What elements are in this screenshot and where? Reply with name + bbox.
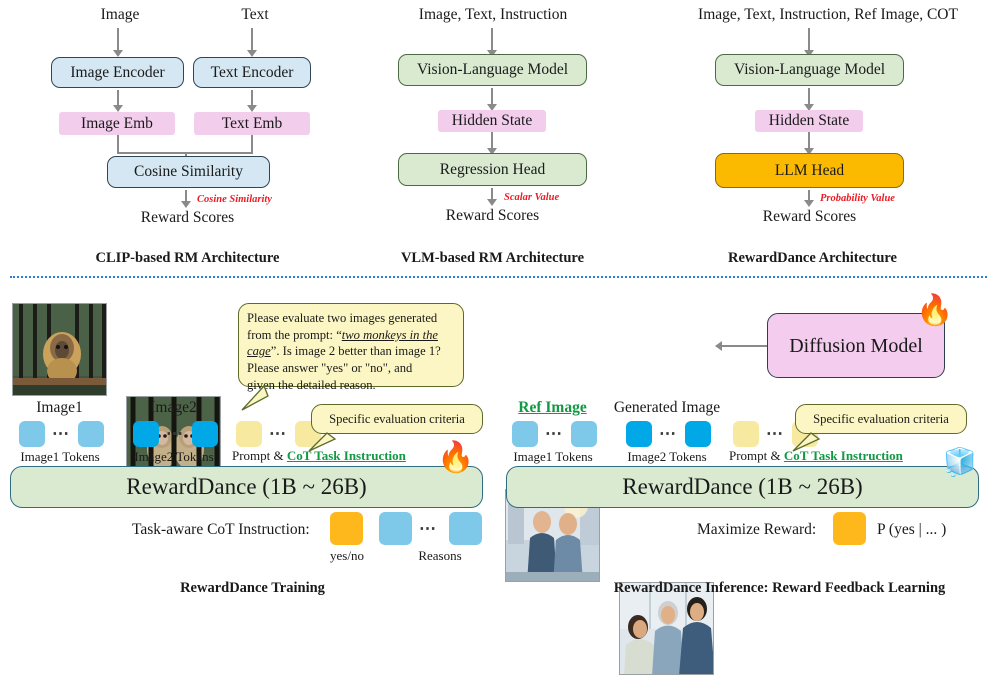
arrowhead-txtenc-to-txtemb <box>247 105 257 112</box>
image1-tokens-label-right: Image1 Tokens <box>498 448 608 466</box>
arrowhead-imgenc-to-imgemb <box>113 105 123 112</box>
bubble-line3-post: ”. Is image 2 better than image 1? <box>271 344 441 358</box>
bubble-prompt-em2: cage <box>247 344 271 358</box>
token-square <box>626 421 652 447</box>
criteria-bubble-left: Specific evaluation criteria <box>311 404 483 434</box>
panel2-annotation: Scalar Value <box>504 192 559 203</box>
line-txtemb-down <box>251 135 253 153</box>
bubble-prompt-em1: two monkeys in the <box>342 328 438 342</box>
image1-thumbnail[interactable] <box>12 303 107 396</box>
panel2-output-label: Reward Scores <box>430 206 555 226</box>
prompt-label-prefix: Prompt & <box>232 448 287 463</box>
arrow-input-to-vlm-2 <box>491 28 493 51</box>
image1-label: Image1 <box>12 398 107 418</box>
panel2-input-label: Image, Text, Instruction <box>382 5 604 25</box>
panel1-input-image: Image <box>80 5 160 25</box>
ref-image-label-wrap: Ref Image <box>505 398 600 418</box>
token-square <box>685 421 711 447</box>
image-encoder-box[interactable]: Image Encoder <box>51 57 184 88</box>
task-aware-cot-label: Task-aware CoT Instruction: <box>132 521 310 539</box>
panel3-caption: RewardDance Architecture <box>700 248 925 268</box>
panel3-output-label: Reward Scores <box>747 207 872 227</box>
reason-token <box>449 512 482 545</box>
bottom-right-caption: RewardDance Inference: Reward Feedback L… <box>567 578 992 598</box>
arrow-hidden-to-head-3 <box>808 132 810 149</box>
llm-head-box[interactable]: LLM Head <box>715 153 904 188</box>
arrow-text-to-encoder <box>251 28 253 51</box>
tokens-ellipsis: ⋯ <box>545 424 564 444</box>
arrowhead-cosine-to-reward <box>181 201 191 208</box>
yesno-token-label: yes/no <box>316 547 378 565</box>
ref-image-tokens-row: ⋯ <box>512 421 597 447</box>
panel1-output-label: Reward Scores <box>125 208 250 228</box>
ice-icon-inference: 🧊 <box>943 449 977 476</box>
line-imgemb-down <box>117 135 119 153</box>
text-encoder-box[interactable]: Text Encoder <box>193 57 311 88</box>
ref-image-label[interactable]: Ref Image <box>518 399 586 417</box>
arrow-image-to-encoder <box>117 28 119 51</box>
token-square <box>512 421 538 447</box>
prompt-label-prefix-right: Prompt & <box>729 448 784 463</box>
panel2-caption: VLM-based RM Architecture <box>385 248 600 268</box>
evaluation-prompt-bubble: Please evaluate two images generated fro… <box>238 303 464 387</box>
text-emb-box[interactable]: Text Emb <box>194 112 310 135</box>
bubble-line2-pre: from the prompt: “ <box>247 328 342 342</box>
arrowhead-head-to-reward-2 <box>487 199 497 206</box>
arrow-diffusion-to-image <box>722 345 767 347</box>
panel1-caption: CLIP-based RM Architecture <box>80 248 295 268</box>
reason-tokens-ellipsis: ⋯ <box>419 519 438 539</box>
token-square <box>236 421 262 447</box>
arrowhead-diffusion-to-image <box>715 341 722 351</box>
image2-label: Image2 <box>126 398 221 418</box>
cosine-similarity-box[interactable]: Cosine Similarity <box>107 156 270 188</box>
reward-probability-token <box>833 512 866 545</box>
panel3-input-label: Image, Text, Instruction, Ref Image, COT <box>663 5 993 25</box>
tokens-ellipsis: ⋯ <box>166 424 185 444</box>
image2-tokens-label: Image2 Tokens <box>119 448 229 466</box>
fire-icon-diffusion: 🔥 <box>916 296 953 326</box>
image-emb-box[interactable]: Image Emb <box>59 112 175 135</box>
reward-formula: P (yes | ... ) <box>877 521 946 539</box>
rewarddance-model-box-training[interactable]: RewardDance (1B ~ 26B) <box>10 466 483 508</box>
arrow-vlm-to-hidden-3 <box>808 88 810 105</box>
arrow-vlm-to-hidden-2 <box>491 88 493 105</box>
yesno-token <box>330 512 363 545</box>
tokens-ellipsis: ⋯ <box>659 424 678 444</box>
generated-image-label: Generated Image <box>607 398 727 418</box>
arrowhead-head-to-reward-3 <box>804 200 814 207</box>
regression-head-box[interactable]: Regression Head <box>398 153 587 186</box>
generated-image-tokens-row: ⋯ <box>626 421 711 447</box>
token-square <box>192 421 218 447</box>
token-square <box>571 421 597 447</box>
bubble-tail-left <box>238 384 288 412</box>
tokens-ellipsis: ⋯ <box>269 424 288 444</box>
bubble-line1: Please evaluate two images generated <box>247 311 437 325</box>
criteria-bubble-tail-right <box>789 431 829 455</box>
tokens-ellipsis: ⋯ <box>52 424 71 444</box>
bottom-left-caption: RewardDance Training <box>145 578 360 598</box>
token-square <box>19 421 45 447</box>
reason-token <box>379 512 412 545</box>
maximize-reward-label: Maximize Reward: <box>697 521 816 539</box>
reasons-token-label: Reasons <box>390 547 490 565</box>
token-square <box>733 421 759 447</box>
panel1-annotation: Cosine Similarity <box>197 194 272 205</box>
arrowhead-text-to-encoder <box>247 50 257 57</box>
criteria-bubble-tail-left <box>305 431 345 455</box>
arrowhead-image-to-encoder <box>113 50 123 57</box>
token-square <box>133 421 159 447</box>
vision-language-model-box-3[interactable]: Vision-Language Model <box>715 54 904 86</box>
vision-language-model-box-2[interactable]: Vision-Language Model <box>398 54 587 86</box>
image2-tokens-label-right: Image2 Tokens <box>612 448 722 466</box>
image1-tokens-label: Image1 Tokens <box>5 448 115 466</box>
image2-tokens-row: ⋯ <box>133 421 218 447</box>
section-divider <box>10 276 987 278</box>
image1-tokens-row: ⋯ <box>19 421 104 447</box>
rewarddance-model-box-inference[interactable]: RewardDance (1B ~ 26B) <box>506 466 979 508</box>
arrow-hidden-to-head-2 <box>491 132 493 149</box>
tokens-ellipsis: ⋯ <box>766 424 785 444</box>
panel1-input-text: Text <box>215 5 295 25</box>
arrow-imgenc-to-imgemb <box>117 90 119 106</box>
arrow-txtenc-to-txtemb <box>251 90 253 106</box>
panel3-annotation: Probability Value <box>820 193 895 204</box>
arrow-input-to-vlm-3 <box>808 28 810 51</box>
token-square <box>78 421 104 447</box>
bubble-line4: Please answer "yes" or "no", and <box>247 361 412 375</box>
fire-icon-training: 🔥 <box>437 443 474 473</box>
hidden-state-box-2[interactable]: Hidden State <box>438 110 546 132</box>
hidden-state-box-3[interactable]: Hidden State <box>755 110 863 132</box>
criteria-bubble-right: Specific evaluation criteria <box>795 404 967 434</box>
